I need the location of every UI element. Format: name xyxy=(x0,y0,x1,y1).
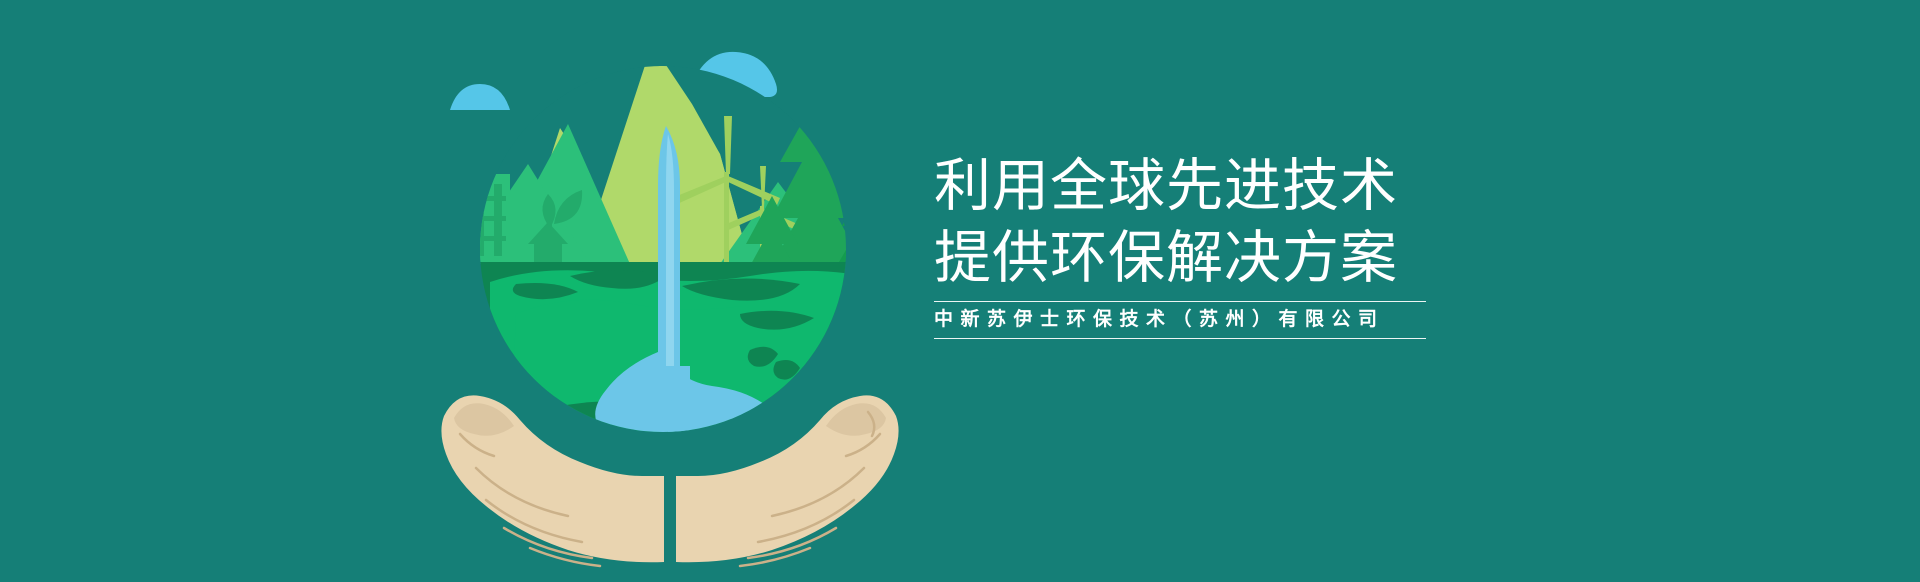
eco-hero-banner: 利用全球先进技术 提供环保解决方案 中新苏伊士环保技术（苏州）有限公司 xyxy=(0,0,1920,582)
divider-top xyxy=(934,301,1426,302)
greenhouse-building-icon xyxy=(468,174,510,264)
company-name: 中新苏伊士环保技术（苏州）有限公司 xyxy=(934,302,1454,335)
headline-line-2: 提供环保解决方案 xyxy=(934,222,1454,294)
cloud-left-icon xyxy=(450,84,510,110)
pine-tree-icon xyxy=(832,172,912,274)
waterfall-highlight xyxy=(666,134,674,366)
hands-holding-earth-illustration xyxy=(420,14,920,574)
headline-line-1: 利用全球先进技术 xyxy=(934,150,1454,222)
divider-bottom xyxy=(934,338,1426,339)
headline-block: 利用全球先进技术 提供环保解决方案 中新苏伊士环保技术（苏州）有限公司 xyxy=(934,150,1454,339)
